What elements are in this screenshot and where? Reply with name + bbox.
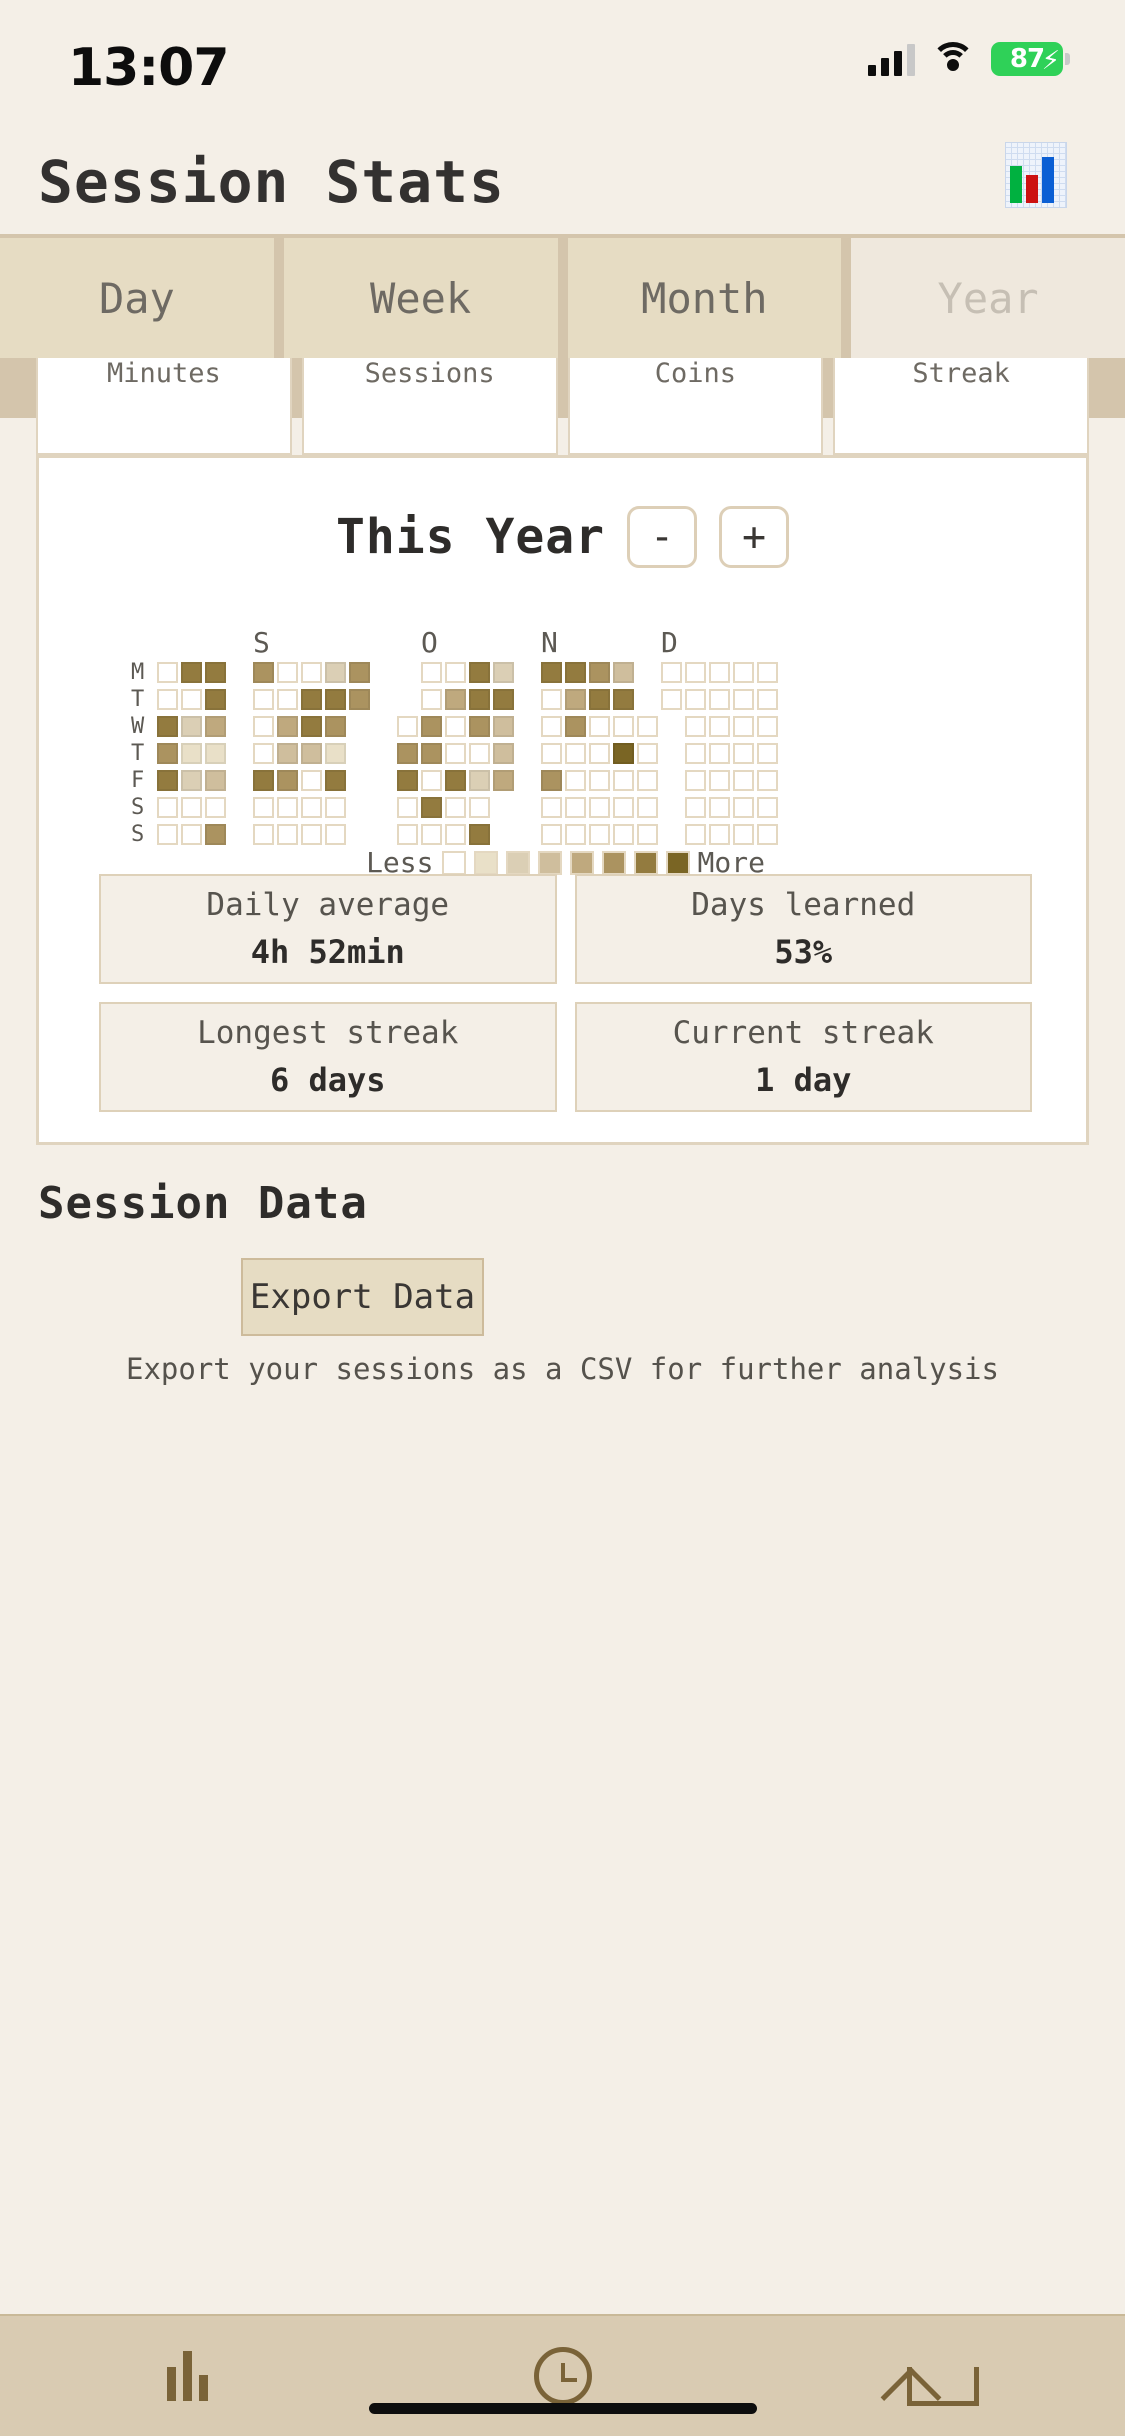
heatmap-cell[interactable] — [469, 797, 490, 818]
heatmap-cell[interactable] — [565, 716, 586, 737]
heatmap-cell[interactable] — [613, 797, 634, 818]
heatmap-cell[interactable] — [613, 689, 634, 710]
heatmap-cell[interactable] — [613, 824, 634, 845]
heatmap-row: W — [131, 714, 1092, 738]
heatmap-cell[interactable] — [685, 743, 706, 764]
heatmap-cell[interactable] — [205, 662, 226, 683]
heatmap-cell[interactable] — [445, 797, 466, 818]
heatmap-month-label: S — [253, 626, 270, 659]
heatmap-spacer — [373, 662, 394, 683]
home-indicator — [369, 2403, 757, 2414]
heatmap-cell[interactable] — [277, 662, 298, 683]
heatmap-month-labels: SOND — [157, 626, 1092, 660]
heatmap-spacer — [661, 797, 682, 818]
heatmap-cell[interactable] — [733, 797, 754, 818]
heatmap-spacer — [493, 824, 514, 845]
heatmap-cell[interactable] — [637, 797, 658, 818]
heatmap-cell[interactable] — [421, 662, 442, 683]
heatmap-cell[interactable] — [589, 716, 610, 737]
cellular-signal-icon — [868, 42, 915, 76]
heatmap-cell[interactable] — [181, 716, 202, 737]
heatmap-cell[interactable] — [277, 743, 298, 764]
tab-day[interactable]: Day — [0, 238, 274, 358]
heatmap-spacer — [517, 797, 538, 818]
heatmap-cell[interactable] — [493, 743, 514, 764]
heatmap-cell[interactable] — [469, 689, 490, 710]
heatmap-cell[interactable] — [181, 770, 202, 791]
year-decrement-label: - — [650, 514, 674, 560]
heatmap-spacer — [517, 743, 538, 764]
year-decrement-button[interactable]: - — [627, 506, 697, 568]
heatmap-cell[interactable] — [565, 770, 586, 791]
heatmap-day-label: M — [131, 660, 157, 685]
heatmap-cell[interactable] — [565, 824, 586, 845]
bar-chart-icon — [167, 2351, 208, 2401]
heatmap-cell[interactable] — [733, 824, 754, 845]
heatmap-spacer — [637, 662, 658, 683]
summary-days-learned-label: Days learned — [691, 887, 915, 923]
period-tab-bar: Day Week Month Year — [0, 234, 1125, 358]
heatmap-cell[interactable] — [397, 770, 418, 791]
clock-icon — [534, 2347, 592, 2405]
heatmap-spacer — [373, 770, 394, 791]
heatmap-row: S — [131, 795, 1092, 819]
heatmap-cell[interactable] — [565, 797, 586, 818]
heatmap-row: F — [131, 768, 1092, 792]
summary-longest-streak-label: Longest streak — [197, 1015, 458, 1051]
heatmap-cell[interactable] — [301, 770, 322, 791]
heatmap-cell[interactable] — [709, 770, 730, 791]
heatmap-cell[interactable] — [637, 824, 658, 845]
heatmap-cell[interactable] — [349, 689, 370, 710]
heatmap-cell[interactable] — [709, 824, 730, 845]
stat-card-streak[interactable]: Streak — [833, 350, 1089, 455]
heatmap-cell[interactable] — [397, 824, 418, 845]
stat-cards: Minutes Sessions Coins Streak — [0, 350, 1125, 455]
heatmap-cell[interactable] — [325, 797, 346, 818]
home-icon — [907, 2351, 969, 2401]
heatmap-cell[interactable] — [205, 770, 226, 791]
heatmap-cell[interactable] — [661, 662, 682, 683]
heatmap-cell[interactable] — [157, 824, 178, 845]
heatmap-cell[interactable] — [301, 797, 322, 818]
heatmap-cell[interactable] — [469, 743, 490, 764]
heatmap-grid: MTWTFSS — [131, 660, 1092, 846]
summary-longest-streak-value: 6 days — [270, 1061, 386, 1099]
heatmap-spacer — [349, 824, 370, 845]
page-title: Session Stats — [38, 148, 505, 216]
heatmap-spacer — [373, 824, 394, 845]
heatmap-cell[interactable] — [325, 716, 346, 737]
heatmap-cell[interactable] — [277, 824, 298, 845]
summary-daily-average-label: Daily average — [206, 887, 449, 923]
status-icons: 87 ⚡ — [868, 42, 1063, 76]
heatmap-cell[interactable] — [205, 716, 226, 737]
app-screen: 13:07 87 ⚡ Session Stats Minutes Session… — [0, 0, 1125, 2436]
heatmap-cell[interactable] — [613, 716, 634, 737]
heatmap-spacer — [229, 770, 250, 791]
heatmap-cell[interactable] — [421, 770, 442, 791]
heatmap-row-cells — [157, 770, 778, 791]
heatmap-cell[interactable] — [493, 689, 514, 710]
heatmap-cell[interactable] — [301, 743, 322, 764]
stat-card-minutes[interactable]: Minutes — [36, 350, 292, 455]
bottom-navigation — [0, 2314, 1125, 2436]
heatmap-cell[interactable] — [637, 743, 658, 764]
heatmap-cell[interactable] — [685, 797, 706, 818]
heatmap-spacer — [349, 743, 370, 764]
heatmap-spacer — [373, 716, 394, 737]
stat-card-coins[interactable]: Coins — [568, 350, 824, 455]
heatmap-spacer — [373, 797, 394, 818]
heatmap-spacer — [517, 662, 538, 683]
heatmap-spacer — [229, 662, 250, 683]
legend-swatches — [442, 851, 690, 875]
heatmap-cell[interactable] — [757, 797, 778, 818]
activity-heatmap: SOND MTWTFSS — [39, 626, 1092, 849]
heatmap-cell[interactable] — [253, 689, 274, 710]
heatmap-cell[interactable] — [205, 797, 226, 818]
heatmap-spacer — [517, 716, 538, 737]
heatmap-cell[interactable] — [325, 662, 346, 683]
heatmap-cell[interactable] — [325, 743, 346, 764]
heatmap-cell[interactable] — [733, 662, 754, 683]
heatmap-spacer — [661, 743, 682, 764]
heatmap-cell[interactable] — [757, 824, 778, 845]
heatmap-cell[interactable] — [445, 743, 466, 764]
legend-swatch — [634, 851, 658, 875]
heatmap-cell[interactable] — [157, 689, 178, 710]
heatmap-cell[interactable] — [253, 770, 274, 791]
summary-current-streak: Current streak 1 day — [575, 1002, 1033, 1112]
heatmap-cell[interactable] — [277, 770, 298, 791]
heatmap-row: T — [131, 741, 1092, 765]
heatmap-cell[interactable] — [277, 689, 298, 710]
legend-swatch — [506, 851, 530, 875]
heatmap-row-cells — [157, 824, 778, 845]
year-stats-card: This Year - + SOND MTWTFSS Less More Dai… — [36, 455, 1089, 1145]
nav-item-timer[interactable] — [375, 2316, 750, 2436]
heatmap-cell[interactable] — [325, 689, 346, 710]
heatmap-spacer — [229, 797, 250, 818]
heatmap-cell[interactable] — [469, 770, 490, 791]
heatmap-cell[interactable] — [661, 689, 682, 710]
heatmap-cell[interactable] — [157, 662, 178, 683]
heatmap-cell[interactable] — [685, 824, 706, 845]
heatmap-spacer — [229, 743, 250, 764]
heatmap-cell[interactable] — [541, 689, 562, 710]
heatmap-cell[interactable] — [565, 662, 586, 683]
heatmap-month-label: N — [541, 626, 558, 659]
heatmap-cell[interactable] — [301, 824, 322, 845]
year-increment-label: + — [742, 514, 766, 560]
heatmap-row-cells — [157, 743, 778, 764]
heatmap-cell[interactable] — [469, 662, 490, 683]
legend-swatch — [602, 851, 626, 875]
stat-card-streak-label: Streak — [912, 358, 1010, 389]
heatmap-cell[interactable] — [565, 743, 586, 764]
heatmap-cell[interactable] — [397, 716, 418, 737]
heatmap-day-label: S — [131, 822, 157, 847]
heatmap-cell[interactable] — [637, 716, 658, 737]
heatmap-cell[interactable] — [205, 743, 226, 764]
status-time: 13:07 — [68, 38, 229, 98]
heatmap-cell[interactable] — [757, 770, 778, 791]
heatmap-spacer — [373, 689, 394, 710]
heatmap-cell[interactable] — [541, 824, 562, 845]
heatmap-cell[interactable] — [301, 662, 322, 683]
heatmap-cell[interactable] — [277, 716, 298, 737]
legend-swatch — [442, 851, 466, 875]
heatmap-cell[interactable] — [181, 824, 202, 845]
heatmap-spacer — [661, 824, 682, 845]
heatmap-cell[interactable] — [421, 824, 442, 845]
heatmap-spacer — [349, 716, 370, 737]
heatmap-cell[interactable] — [709, 743, 730, 764]
heatmap-cell[interactable] — [757, 716, 778, 737]
heatmap-cell[interactable] — [685, 770, 706, 791]
heatmap-cell[interactable] — [157, 716, 178, 737]
heatmap-cell[interactable] — [157, 797, 178, 818]
heatmap-day-label: T — [131, 687, 157, 712]
heatmap-cell[interactable] — [709, 662, 730, 683]
summary-current-streak-value: 1 day — [755, 1061, 851, 1099]
heatmap-cell[interactable] — [541, 662, 562, 683]
heatmap-cell[interactable] — [421, 716, 442, 737]
session-data-title: Session Data — [38, 1178, 368, 1229]
heatmap-cell[interactable] — [613, 662, 634, 683]
heatmap-cell[interactable] — [709, 716, 730, 737]
year-card-title: This Year — [336, 509, 605, 565]
heatmap-cell[interactable] — [421, 797, 442, 818]
year-increment-button[interactable]: + — [719, 506, 789, 568]
heatmap-cell[interactable] — [493, 770, 514, 791]
heatmap-cell[interactable] — [685, 662, 706, 683]
heatmap-cell[interactable] — [253, 797, 274, 818]
tab-year[interactable]: Year — [851, 238, 1125, 358]
battery-level: 87 — [1010, 44, 1044, 74]
year-card-header: This Year - + — [39, 506, 1086, 568]
heatmap-cell[interactable] — [733, 770, 754, 791]
heatmap-cell[interactable] — [181, 797, 202, 818]
heatmap-day-label: W — [131, 714, 157, 739]
heatmap-cell[interactable] — [613, 770, 634, 791]
heatmap-month-label: D — [661, 626, 678, 659]
nav-item-home[interactable] — [750, 2316, 1125, 2436]
legend-swatch — [474, 851, 498, 875]
heatmap-spacer — [661, 770, 682, 791]
heatmap-cell[interactable] — [253, 743, 274, 764]
heatmap-cell[interactable] — [541, 797, 562, 818]
heatmap-cell[interactable] — [589, 824, 610, 845]
heatmap-cell[interactable] — [397, 797, 418, 818]
heatmap-cell[interactable] — [469, 716, 490, 737]
heatmap-cell[interactable] — [421, 689, 442, 710]
heatmap-cell[interactable] — [205, 824, 226, 845]
heatmap-month-label: O — [421, 626, 438, 659]
heatmap-cell[interactable] — [469, 824, 490, 845]
heatmap-row-cells — [157, 662, 778, 683]
summary-current-streak-label: Current streak — [673, 1015, 934, 1051]
heatmap-row-cells — [157, 689, 778, 710]
heatmap-cell[interactable] — [589, 662, 610, 683]
heatmap-cell[interactable] — [757, 743, 778, 764]
heatmap-cell[interactable] — [493, 662, 514, 683]
heatmap-cell[interactable] — [685, 716, 706, 737]
wifi-icon — [931, 42, 975, 76]
legend-swatch — [538, 851, 562, 875]
heatmap-cell[interactable] — [589, 743, 610, 764]
heatmap-cell[interactable] — [181, 743, 202, 764]
tab-year-label: Year — [938, 274, 1039, 323]
nav-item-stats[interactable] — [0, 2316, 375, 2436]
heatmap-spacer — [637, 689, 658, 710]
summary-days-learned: Days learned 53% — [575, 874, 1033, 984]
stat-card-sessions[interactable]: Sessions — [302, 350, 558, 455]
heatmap-cell[interactable] — [757, 689, 778, 710]
heatmap-spacer — [229, 689, 250, 710]
heatmap-row: T — [131, 687, 1092, 711]
heatmap-cell[interactable] — [541, 716, 562, 737]
summary-longest-streak: Longest streak 6 days — [99, 1002, 557, 1112]
heatmap-cell[interactable] — [709, 689, 730, 710]
heatmap-cell[interactable] — [181, 662, 202, 683]
heatmap-day-label: S — [131, 795, 157, 820]
heatmap-cell[interactable] — [589, 797, 610, 818]
heatmap-spacer — [517, 689, 538, 710]
export-data-label: Export Data — [250, 1277, 475, 1317]
heatmap-cell[interactable] — [445, 662, 466, 683]
heatmap-cell[interactable] — [253, 824, 274, 845]
heatmap-cell[interactable] — [445, 770, 466, 791]
heatmap-spacer — [373, 743, 394, 764]
charging-bolt-icon: ⚡ — [1042, 46, 1059, 76]
battery-icon: 87 ⚡ — [991, 42, 1063, 76]
heatmap-spacer — [349, 770, 370, 791]
heatmap-cell[interactable] — [397, 743, 418, 764]
legend-swatch — [570, 851, 594, 875]
heatmap-cell[interactable] — [157, 770, 178, 791]
heatmap-cell[interactable] — [589, 770, 610, 791]
tab-day-label: Day — [99, 274, 175, 323]
stat-card-minutes-label: Minutes — [107, 358, 221, 389]
heatmap-spacer — [229, 716, 250, 737]
heatmap-cell[interactable] — [757, 662, 778, 683]
heatmap-cell[interactable] — [421, 743, 442, 764]
status-bar: 13:07 87 ⚡ — [0, 0, 1125, 135]
heatmap-cell[interactable] — [253, 662, 274, 683]
heatmap-spacer — [397, 662, 418, 683]
tab-month-label: Month — [641, 274, 767, 323]
tab-month[interactable]: Month — [568, 238, 842, 358]
heatmap-cell[interactable] — [181, 689, 202, 710]
heatmap-spacer — [661, 716, 682, 737]
heatmap-cell[interactable] — [325, 770, 346, 791]
heatmap-cell[interactable] — [541, 770, 562, 791]
heatmap-cell[interactable] — [565, 689, 586, 710]
heatmap-cell[interactable] — [541, 743, 562, 764]
heatmap-cell[interactable] — [709, 797, 730, 818]
heatmap-cell[interactable] — [301, 716, 322, 737]
heatmap-spacer — [517, 770, 538, 791]
heatmap-cell[interactable] — [205, 689, 226, 710]
heatmap-day-label: T — [131, 741, 157, 766]
tab-week[interactable]: Week — [284, 238, 558, 358]
heatmap-row: S — [131, 822, 1092, 846]
year-summary-grid: Daily average 4h 52min Days learned 53% … — [99, 874, 1032, 1112]
heatmap-cell[interactable] — [349, 662, 370, 683]
heatmap-spacer — [397, 689, 418, 710]
heatmap-cell[interactable] — [685, 689, 706, 710]
heatmap-cell[interactable] — [445, 716, 466, 737]
heatmap-cell[interactable] — [589, 689, 610, 710]
summary-daily-average-value: 4h 52min — [251, 933, 405, 971]
heatmap-spacer — [517, 824, 538, 845]
heatmap-cell[interactable] — [733, 743, 754, 764]
heatmap-cell[interactable] — [445, 824, 466, 845]
heatmap-spacer — [493, 797, 514, 818]
heatmap-cell[interactable] — [637, 770, 658, 791]
heatmap-cell[interactable] — [613, 743, 634, 764]
heatmap-cell[interactable] — [733, 716, 754, 737]
heatmap-row: M — [131, 660, 1092, 684]
export-data-button[interactable]: Export Data — [241, 1258, 484, 1336]
heatmap-spacer — [229, 824, 250, 845]
heatmap-cell[interactable] — [157, 743, 178, 764]
heatmap-day-label: F — [131, 768, 157, 793]
app-header: Session Stats — [0, 130, 1125, 240]
heatmap-row-cells — [157, 797, 778, 818]
heatmap-cell[interactable] — [253, 716, 274, 737]
heatmap-row-cells — [157, 716, 778, 737]
legend-swatch — [666, 851, 690, 875]
stat-card-coins-label: Coins — [655, 358, 736, 389]
heatmap-cell[interactable] — [733, 689, 754, 710]
heatmap-cell[interactable] — [277, 797, 298, 818]
summary-daily-average: Daily average 4h 52min — [99, 874, 557, 984]
session-data-note: Export your sessions as a CSV for furthe… — [80, 1348, 1045, 1390]
heatmap-spacer — [349, 797, 370, 818]
heatmap-cell[interactable] — [325, 824, 346, 845]
tab-week-label: Week — [370, 274, 471, 323]
heatmap-cell[interactable] — [301, 689, 322, 710]
heatmap-cell[interactable] — [493, 716, 514, 737]
stat-card-sessions-label: Sessions — [365, 358, 495, 389]
bar-chart-icon[interactable] — [1005, 142, 1067, 208]
heatmap-cell[interactable] — [445, 689, 466, 710]
summary-days-learned-value: 53% — [774, 933, 832, 971]
